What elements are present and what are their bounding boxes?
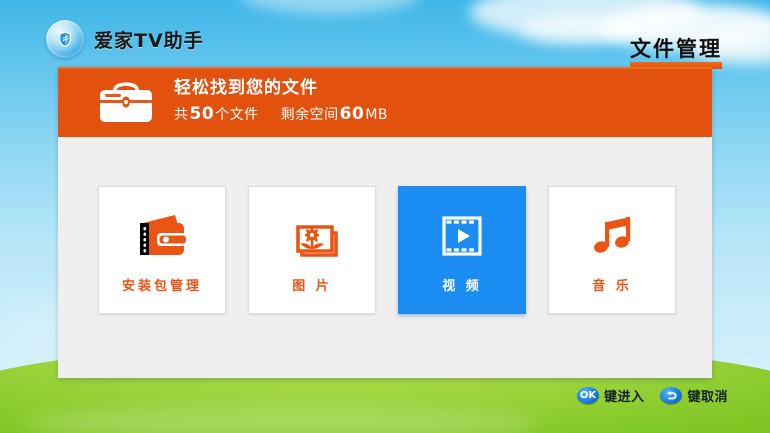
cloud-decoration <box>240 0 420 14</box>
space-prefix: 剩余空间 <box>281 107 339 123</box>
tile-images[interactable]: 图 片 <box>248 186 376 314</box>
tile-label: 安装包管理 <box>122 275 202 294</box>
app-logo: 爱家TV助手 <box>46 20 204 58</box>
tv-file-manager-screen: 爱家TV助手 文件管理 轻松找到您的文件 共 50 <box>0 0 770 433</box>
space-value: 60 <box>339 105 366 125</box>
hint-label: 键进入 <box>604 386 645 405</box>
tile-label: 图 片 <box>292 275 332 294</box>
banner-top-edge <box>58 67 712 69</box>
banner-headline: 轻松找到您的文件 <box>174 79 388 99</box>
page-title: 文件管理 <box>630 33 722 63</box>
app-name: 爱家TV助手 <box>94 26 204 53</box>
toolbox-icon <box>96 78 156 126</box>
grass-highlight <box>20 407 540 433</box>
ok-button-icon: OK <box>577 387 599 404</box>
files-prefix: 共 <box>174 107 189 123</box>
cloud-decoration <box>520 14 630 44</box>
hint-ok-enter: OK 键进入 <box>577 386 645 405</box>
tile-music[interactable]: 音 乐 <box>548 186 676 314</box>
photo-frame-flower-icon <box>281 205 343 267</box>
back-arrow-icon <box>660 387 682 404</box>
hint-back-cancel: 键取消 <box>660 386 728 405</box>
shield-circle-icon <box>46 20 84 58</box>
hint-label: 键取消 <box>687 386 728 405</box>
summary-banner: 轻松找到您的文件 共 50 个文件 剩余空间 60 MB <box>58 67 712 137</box>
content-panel: 轻松找到您的文件 共 50 个文件 剩余空间 60 MB <box>58 67 712 378</box>
film-play-icon <box>431 205 493 267</box>
banner-text-block: 轻松找到您的文件 共 50 个文件 剩余空间 60 MB <box>174 79 388 124</box>
category-tile-row: 安装包管理 <box>98 186 676 314</box>
tile-label: 音 乐 <box>592 275 632 294</box>
files-count: 50 <box>189 105 216 125</box>
tile-video[interactable]: 视 频 <box>398 186 526 314</box>
tile-label: 视 频 <box>442 275 482 294</box>
files-suffix: 个文件 <box>215 107 259 123</box>
wallet-icon <box>131 205 193 267</box>
key-hints: OK 键进入 键取消 <box>577 386 728 405</box>
banner-subline: 共 50 个文件 剩余空间 60 MB <box>174 105 388 125</box>
tile-apk-manager[interactable]: 安装包管理 <box>98 186 226 314</box>
space-unit: MB <box>365 107 388 123</box>
music-note-icon <box>581 205 643 267</box>
